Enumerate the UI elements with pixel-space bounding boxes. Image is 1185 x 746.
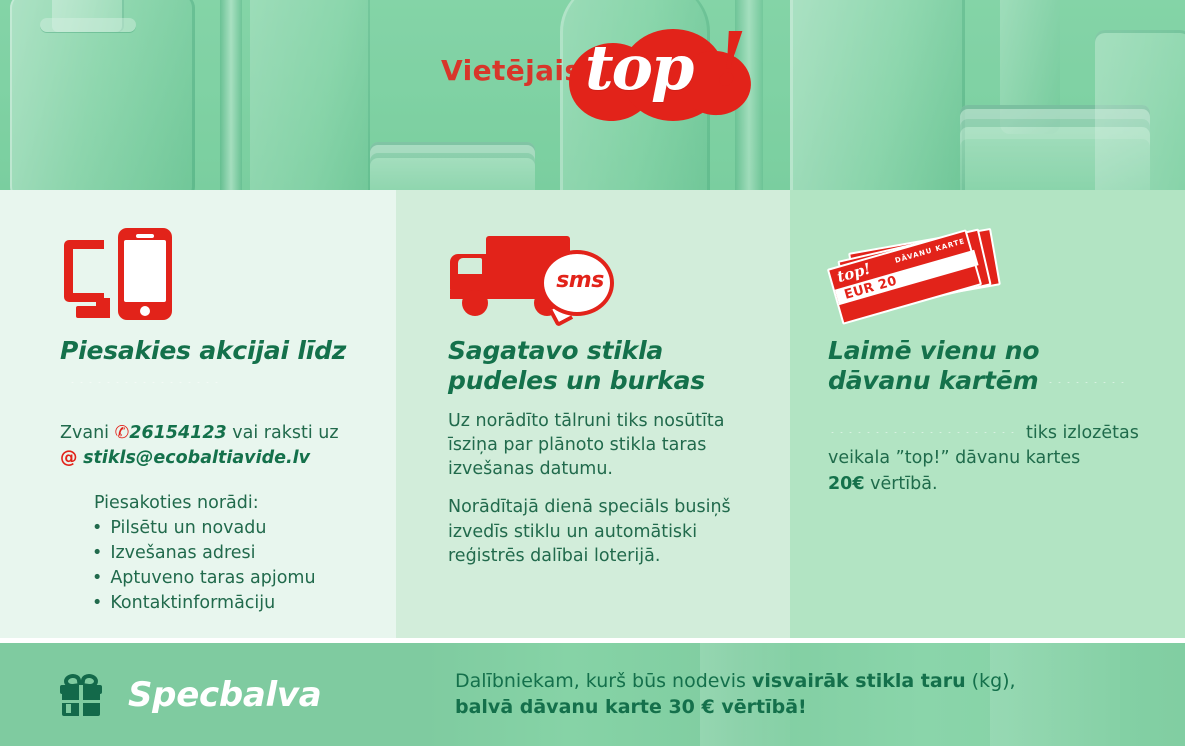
prize-text: tiks izlozētas veikala ”top!” dāvanu kar… bbox=[828, 421, 1149, 497]
prepare-paragraph-2: Norādītajā dienā speciāls busiņš izvedīs… bbox=[448, 495, 754, 567]
phone-icon: ✆ bbox=[115, 423, 130, 443]
email-address[interactable]: stikls@ecobaltiavide.lv bbox=[83, 448, 310, 468]
special-prize-text: Dalībniekam, kurš būs nodevis visvairāk … bbox=[455, 669, 1016, 720]
promo-poster: Vietējais top ! bbox=[0, 0, 1185, 746]
special-prize-bar: Specbalva Dalībniekam, kurš būs nodevis … bbox=[0, 643, 1185, 746]
top-logo-exclamation: ! bbox=[714, 23, 746, 97]
prize-text-after-blank: tiks izlozētas bbox=[1026, 423, 1139, 443]
contact-lead-text: Zvani bbox=[60, 423, 109, 443]
top-logo: top ! bbox=[561, 25, 741, 123]
hero-banner: Vietējais top ! bbox=[0, 0, 1185, 190]
step-column-signup: Piesakies akcijai līdz Zvani ✆26154123 v… bbox=[0, 190, 396, 638]
step-title-signup: Piesakies akcijai līdz bbox=[60, 336, 356, 395]
top-logo-word: top bbox=[585, 37, 692, 99]
phone-number[interactable]: 26154123 bbox=[129, 423, 226, 443]
special-prize-label: Specbalva bbox=[128, 675, 321, 715]
special-prize-line-1c: (kg), bbox=[966, 670, 1016, 692]
contact-mid-text: vai raksti uz bbox=[232, 423, 338, 443]
signup-requirements: Piesakoties norādi: Pilsētu un novadu Iz… bbox=[92, 491, 356, 617]
prepare-paragraph-1: Uz norādīto tālruni tiks nosūtīta īsziņa… bbox=[448, 409, 754, 481]
list-item: Kontaktinformāciju bbox=[92, 591, 356, 616]
step-title-prize-text: Laimē vienu no dāvanu kartēm bbox=[828, 336, 1039, 395]
computer-phone-icon bbox=[60, 228, 356, 336]
step-column-prepare: sms Sagatavo stikla pudeles un burkas Uz… bbox=[396, 190, 790, 638]
steps-columns: Piesakies akcijai līdz Zvani ✆26154123 v… bbox=[0, 190, 1185, 638]
fill-in-dotted-line bbox=[1046, 382, 1124, 383]
prize-amount: 20€ bbox=[828, 474, 865, 494]
special-prize-line-2: balvā dāvanu karte 30 € vērtībā! bbox=[455, 696, 807, 718]
list-item: Pilsētu un novadu bbox=[92, 516, 356, 541]
signup-requirements-lead: Piesakoties norādi: bbox=[94, 491, 356, 516]
step-title-prize: Laimē vienu no dāvanu kartēm bbox=[828, 336, 1149, 395]
contact-block: Zvani ✆26154123 vai raksti uz @ stikls@e… bbox=[60, 421, 356, 471]
prize-text-line-2: veikala ”top!” dāvanu kartes bbox=[828, 448, 1080, 468]
step-title-prepare: Sagatavo stikla pudeles un burkas bbox=[448, 336, 754, 395]
step-column-prize: top! DĀVANU KARTE EUR 20 Laimē vienu no … bbox=[790, 190, 1185, 638]
step-title-signup-text: Piesakies akcijai līdz bbox=[60, 336, 346, 365]
at-icon: @ bbox=[60, 448, 78, 468]
special-prize-highlight: visvairāk stikla taru bbox=[752, 670, 966, 692]
list-item: Izvešanas adresi bbox=[92, 541, 356, 566]
prize-text-tail: vērtībā. bbox=[870, 474, 937, 494]
fill-in-dotted-line bbox=[68, 382, 218, 383]
gift-cards-icon: top! DĀVANU KARTE EUR 20 bbox=[828, 228, 1149, 336]
special-prize-line-1a: Dalībniekam, kurš būs nodevis bbox=[455, 670, 752, 692]
fill-in-dotted-line bbox=[828, 432, 1018, 433]
list-item: Aptuveno taras apjomu bbox=[92, 566, 356, 591]
truck-sms-icon: sms bbox=[448, 228, 754, 336]
sms-bubble-label: sms bbox=[552, 268, 608, 293]
gift-box-icon bbox=[60, 674, 102, 716]
signup-requirements-list: Pilsētu un novadu Izvešanas adresi Aptuv… bbox=[92, 516, 356, 617]
